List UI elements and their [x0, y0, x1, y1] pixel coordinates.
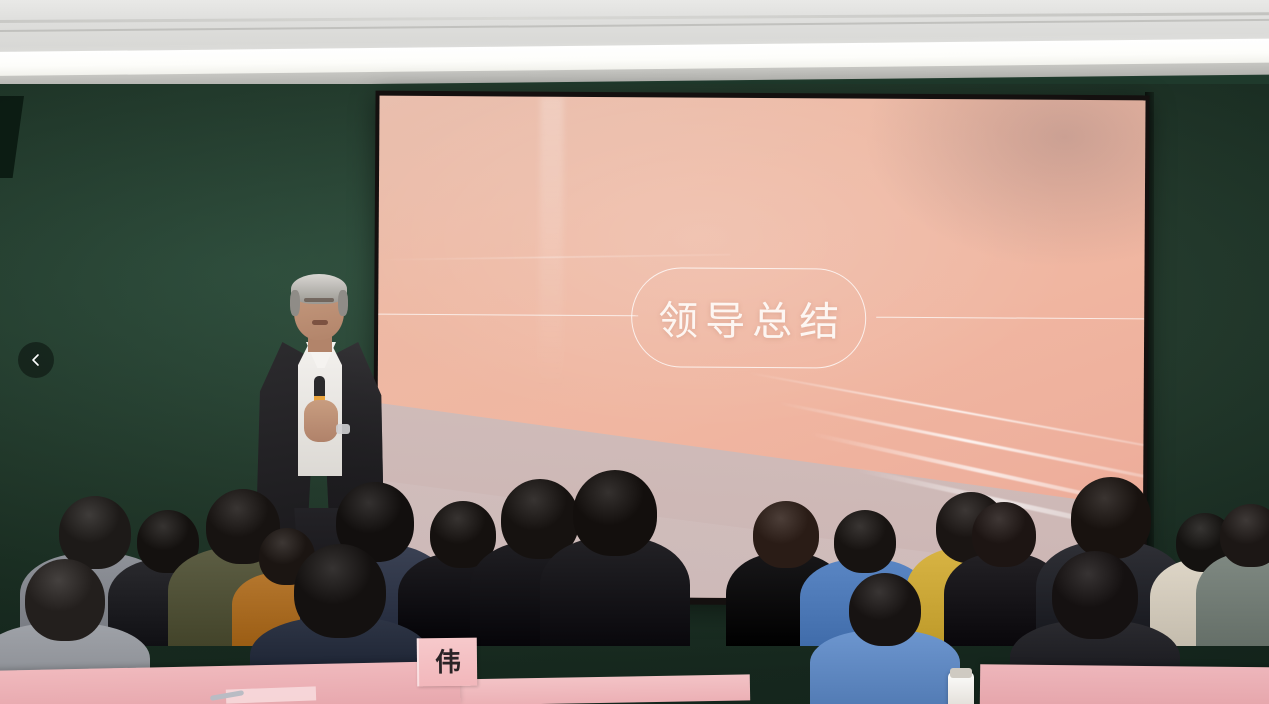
- slide-title-frame: 领导总结: [631, 267, 867, 368]
- attendee-head: [25, 559, 105, 641]
- speaker-brow: [304, 298, 334, 302]
- attendee-center-dark: [540, 471, 690, 646]
- name-card: 伟: [417, 638, 477, 687]
- attendee-head: [573, 470, 657, 556]
- presentation-room-photo: 领导总结 伟: [0, 0, 1269, 704]
- slide-title: 领导总结: [651, 288, 846, 347]
- attendee-head: [1220, 504, 1269, 567]
- attendee-gray-sweater-far: [1196, 496, 1269, 646]
- conference-table-front-right: [980, 664, 1269, 704]
- attendee-torso: [1196, 553, 1269, 646]
- attendee-head: [294, 544, 386, 638]
- previous-photo-button[interactable]: [18, 342, 54, 378]
- attendee-head: [849, 573, 921, 646]
- attendee-head: [972, 502, 1036, 567]
- attendee-front-blue: [810, 584, 960, 704]
- attendee-head: [1052, 551, 1138, 639]
- speaker-mouth: [312, 320, 328, 325]
- speaker-hair-side-left: [290, 290, 300, 316]
- speaker-wristwatch: [336, 424, 350, 434]
- speaker-hands: [304, 400, 338, 442]
- attendee-head: [834, 510, 896, 573]
- water-bottle-cap: [950, 668, 972, 678]
- speaker-hair-side-right: [338, 290, 348, 316]
- chevron-left-icon: [29, 353, 43, 367]
- attendee-head: [1071, 477, 1151, 559]
- name-card-text: 伟: [435, 649, 461, 675]
- audience-area: 伟: [0, 444, 1269, 704]
